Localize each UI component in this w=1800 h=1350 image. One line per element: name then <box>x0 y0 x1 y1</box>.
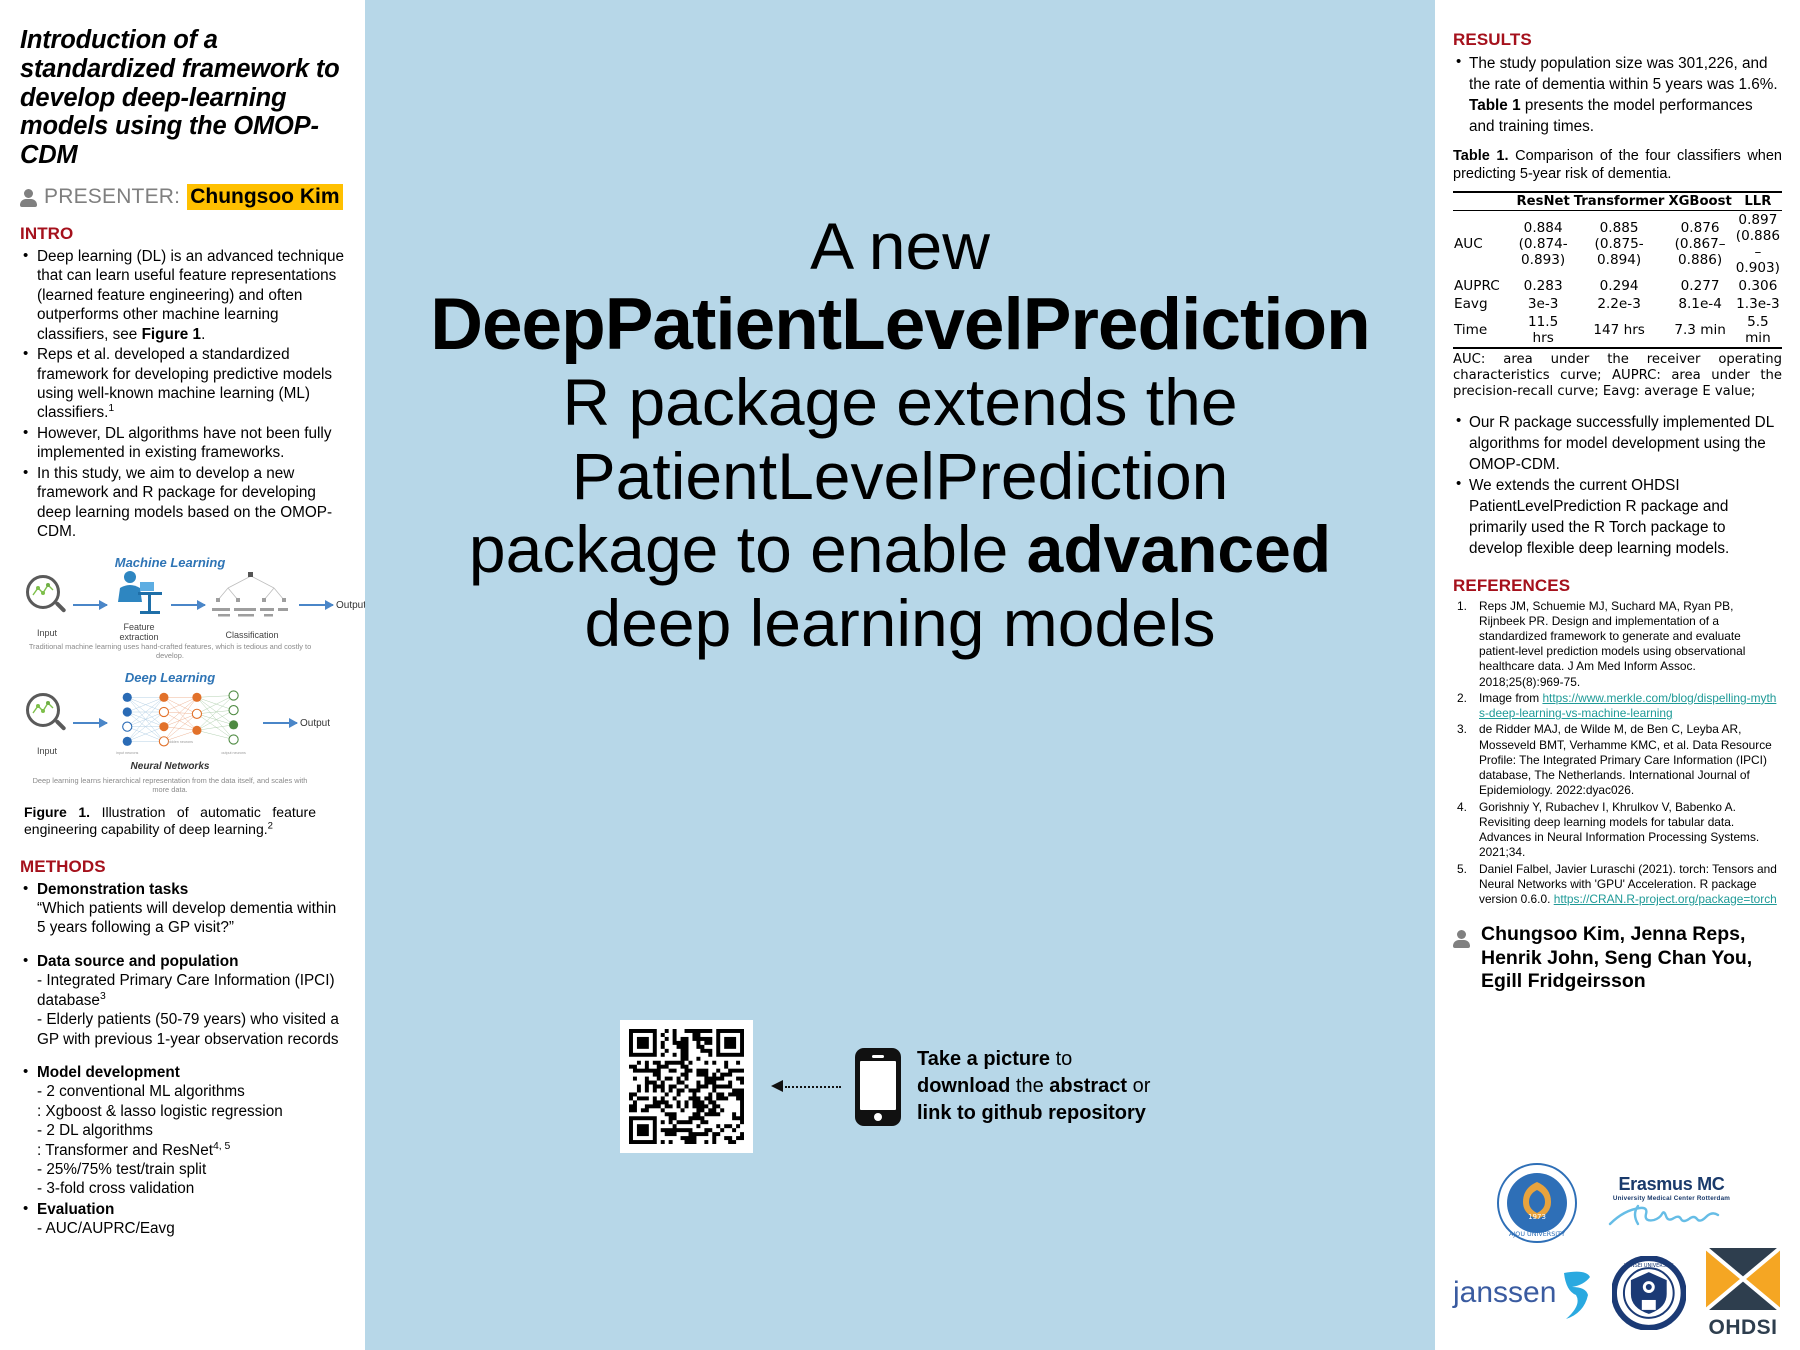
table-row: AUC 0.884 (0.874-0.893) 0.885 (0.875-0.8… <box>1453 211 1782 278</box>
page-title: Introduction of a standardized framework… <box>20 26 345 170</box>
row-label-auprc: AUPRC <box>1453 277 1515 295</box>
list-item: Demonstration tasks “Which patients will… <box>20 880 345 938</box>
list-item: Our R package successfully implemented D… <box>1453 412 1782 475</box>
list-item: Reps JM, Schuemie MJ, Suchard MA, Ryan P… <box>1453 599 1782 690</box>
decision-tree-icon <box>208 570 294 624</box>
cell-time-xgboost: 7.3 min <box>1666 313 1733 348</box>
arrow-icon <box>299 604 333 606</box>
col-header-transformer: Transformer <box>1572 192 1667 211</box>
cell-eavg-llr: 1.3e-3 <box>1734 295 1782 313</box>
cell-time-transformer: 147 hrs <box>1572 313 1667 348</box>
figure-caption-label: Figure 1. <box>24 804 90 820</box>
table-header-row: ResNet Transformer XGBoost LLR <box>1453 192 1782 211</box>
ml-input-label: Input <box>24 628 70 638</box>
results-table: ResNet Transformer XGBoost LLR AUC 0.884… <box>1453 191 1782 349</box>
row-label-auc: AUC <box>1453 211 1515 278</box>
references-heading: REFERENCES <box>1453 576 1782 596</box>
input-neurons-label: input neurons <box>116 752 138 756</box>
method-line: - 2 conventional ML algorithms <box>37 1083 245 1100</box>
qr-text-line3: link to github repository <box>917 1102 1146 1124</box>
headline-line-5b: advanced <box>1027 512 1331 586</box>
headline-line-5a: package to enable <box>469 512 1027 586</box>
machine-learning-panel: Machine Learning Input <box>24 555 316 660</box>
person-at-desk-icon <box>110 568 166 616</box>
headline-line-2: DeepPatientLevelPrediction <box>430 284 1370 365</box>
neural-network-icon: input neurons hidden neurons output neur… <box>110 690 260 756</box>
results-bullet-list: The study population size was 301,226, a… <box>1453 53 1782 137</box>
list-item: Deep learning (DL) is an advanced techni… <box>20 247 345 344</box>
method-title: Evaluation <box>37 1201 114 1218</box>
left-column: Introduction of a standardized framework… <box>0 0 365 1350</box>
qr-area: Take a picture to download the abstract … <box>620 1020 1150 1153</box>
dotted-arrow-icon <box>771 1077 849 1097</box>
magnifier-icon <box>24 573 68 627</box>
classification-label: Classification <box>208 630 296 640</box>
headline-line-1: A new <box>810 209 990 283</box>
cell-time-llr: 5.5 min <box>1734 313 1782 348</box>
col-header-llr: LLR <box>1734 192 1782 211</box>
method-title: Demonstration tasks <box>37 881 188 898</box>
list-item: In this study, we aim to develop a new f… <box>20 464 345 542</box>
figure-caption: Figure 1. Illustration of automatic feat… <box>24 804 316 838</box>
dl-panel-title: Deep Learning <box>24 670 316 685</box>
dl-note: Deep learning learns hierarchical repres… <box>24 776 316 794</box>
row-label-time: Time <box>1453 313 1515 348</box>
cell-auprc-xgboost: 0.277 <box>1666 277 1733 295</box>
person-icon <box>20 188 37 207</box>
qr-text-line2d: or <box>1127 1075 1150 1097</box>
janssen-logo: janssen <box>1453 1265 1594 1321</box>
results-heading: RESULTS <box>1453 30 1782 50</box>
list-item: de Ridder MAJ, de Wilde M, de Ben C, Ley… <box>1453 722 1782 798</box>
list-item: However, DL algorithms have not been ful… <box>20 424 345 463</box>
col-header-resnet: ResNet <box>1515 192 1572 211</box>
ml-panel-title: Machine Learning <box>24 555 316 570</box>
hidden-neurons-label: hidden neurons <box>168 741 193 745</box>
headline-line-4: PatientLevelPrediction <box>572 439 1229 513</box>
qr-text-line1b: to <box>1050 1048 1072 1070</box>
poster-root: Introduction of a standardized framework… <box>0 0 1800 1350</box>
qr-text-line1a: Take a picture <box>917 1048 1050 1070</box>
methods-heading: METHODS <box>20 857 345 877</box>
qr-text-line2b: the <box>1010 1075 1049 1097</box>
cell-auc-transformer: 0.885 (0.875-0.894) <box>1572 211 1667 278</box>
presenter-name: Chungsoo Kim <box>187 184 342 210</box>
phone-icon <box>855 1048 901 1126</box>
methods-list: Demonstration tasks “Which patients will… <box>20 880 345 1239</box>
cell-auc-llr: 0.897 (0.886 – 0.903) <box>1734 211 1782 278</box>
ml-note: Traditional machine learning uses hand-c… <box>24 642 316 660</box>
cell-time-resnet: 11.5 hrs <box>1515 313 1572 348</box>
list-item: The study population size was 301,226, a… <box>1453 53 1782 137</box>
ajou-university-logo: 1973 AJOU UNIVERSITY <box>1496 1162 1578 1244</box>
list-item: Image from https://www.merkle.com/blog/d… <box>1453 691 1782 721</box>
table-row: AUPRC 0.283 0.294 0.277 0.306 <box>1453 277 1782 295</box>
dl-output-label: Output <box>300 718 336 729</box>
arrow-icon <box>263 722 297 724</box>
method-title: Model development <box>37 1064 180 1081</box>
center-headline: A new DeepPatientLevelPrediction R packa… <box>400 210 1400 661</box>
neural-networks-label: Neural Networks <box>24 761 316 772</box>
table-caption-label: Table 1. <box>1453 148 1509 164</box>
svg-text:YONSEI UNIVERSITY: YONSEI UNIVERSITY <box>1624 1263 1675 1269</box>
cell-eavg-transformer: 2.2e-3 <box>1572 295 1667 313</box>
output-neurons-label: output neurons <box>221 752 246 756</box>
cell-auprc-llr: 0.306 <box>1734 277 1782 295</box>
list-item: Reps et al. developed a standardized fra… <box>20 345 345 423</box>
ref-prefix: Image from <box>1479 691 1542 705</box>
arrow-icon <box>73 722 107 724</box>
intro-heading: INTRO <box>20 224 345 244</box>
cell-auc-resnet: 0.884 (0.874-0.893) <box>1515 211 1572 278</box>
svg-text:1973: 1973 <box>1528 1213 1546 1221</box>
list-item: Data source and population - Integrated … <box>20 952 345 1049</box>
figure-1-illustration: Machine Learning Input <box>24 555 316 838</box>
method-line: “Which patients will develop dementia wi… <box>37 900 336 936</box>
dl-input-label: Input <box>24 746 70 756</box>
list-item: Daniel Falbel, Javier Luraschi (2021). t… <box>1453 862 1782 908</box>
magnifier-icon <box>24 691 68 745</box>
method-line: - 2 DL algorithms <box>37 1122 153 1139</box>
reference-link[interactable]: https://CRAN.R-project.org/package=torch <box>1554 892 1777 906</box>
cell-eavg-resnet: 3e-3 <box>1515 295 1572 313</box>
authors-row: Chungsoo Kim, Jenna Reps, Henrik John, S… <box>1453 923 1782 993</box>
table-caption: Table 1. Comparison of the four classifi… <box>1453 148 1782 183</box>
ohdsi-logo: OHDSI <box>1704 1246 1782 1340</box>
arrow-icon <box>171 604 205 606</box>
method-line: - Elderly patients (50-79 years) who vis… <box>37 1011 339 1047</box>
yonsei-university-logo: YONSEI UNIVERSITY <box>1612 1256 1686 1330</box>
col-header-blank <box>1453 192 1515 211</box>
table-row: Eavg 3e-3 2.2e-3 8.1e-4 1.3e-3 <box>1453 295 1782 313</box>
cell-eavg-xgboost: 8.1e-4 <box>1666 295 1733 313</box>
list-item: Evaluation - AUC/AUPRC/Eavg <box>20 1200 345 1239</box>
presenter-label: PRESENTER: <box>44 185 180 209</box>
method-line: - 3-fold cross validation <box>37 1180 194 1197</box>
qr-code[interactable] <box>620 1020 753 1153</box>
erasmus-mc-logo: Erasmus MC University Medical Center Rot… <box>1604 1174 1740 1233</box>
headline-line-3: R package extends the <box>562 365 1237 439</box>
list-item: Model development - 2 conventional ML al… <box>20 1063 345 1199</box>
arrow-icon <box>73 604 107 606</box>
qr-text-line2a: download <box>917 1075 1010 1097</box>
cell-auc-xgboost: 0.876 (0.867–0.886) <box>1666 211 1733 278</box>
method-title: Data source and population <box>37 953 238 970</box>
method-line: : Xgboost & lasso logistic regression <box>37 1103 283 1120</box>
cell-auprc-resnet: 0.283 <box>1515 277 1572 295</box>
table-row: Time 11.5 hrs 147 hrs 7.3 min 5.5 min <box>1453 313 1782 348</box>
authors-list: Chungsoo Kim, Jenna Reps, Henrik John, S… <box>1481 923 1782 993</box>
right-column: RESULTS The study population size was 30… <box>1435 0 1800 1350</box>
col-header-xgboost: XGBoost <box>1666 192 1733 211</box>
method-line: - 25%/75% test/train split <box>37 1161 206 1178</box>
method-line: - AUC/AUPRC/Eavg <box>37 1220 175 1237</box>
svg-text:AJOU UNIVERSITY: AJOU UNIVERSITY <box>1509 1230 1565 1238</box>
qr-text-line2c: abstract <box>1049 1075 1127 1097</box>
list-item: We extends the current OHDSI PatientLeve… <box>1453 475 1782 559</box>
references-list: Reps JM, Schuemie MJ, Suchard MA, Ryan P… <box>1453 599 1782 908</box>
presenter-row: PRESENTER: Chungsoo Kim <box>20 184 345 210</box>
center-column: A new DeepPatientLevelPrediction R packa… <box>365 0 1435 1350</box>
results-conclusion-list: Our R package successfully implemented D… <box>1453 412 1782 560</box>
cell-auprc-transformer: 0.294 <box>1572 277 1667 295</box>
table-footnote: AUC: area under the receiver operating c… <box>1453 352 1782 400</box>
feature-extraction-label: Feature extraction <box>110 622 168 642</box>
deep-learning-panel: Deep Learning Input <box>24 670 316 794</box>
list-item: Gorishniy Y, Rubachev I, Khrulkov V, Bab… <box>1453 800 1782 861</box>
logos-section: 1973 AJOU UNIVERSITY Erasmus MC Universi… <box>1453 1162 1782 1340</box>
headline-line-6: deep learning models <box>584 586 1215 660</box>
intro-bullet-list: Deep learning (DL) is an advanced techni… <box>20 247 345 541</box>
qr-instruction-text: Take a picture to download the abstract … <box>917 1046 1150 1127</box>
row-label-eavg: Eavg <box>1453 295 1515 313</box>
person-icon <box>1453 929 1470 948</box>
